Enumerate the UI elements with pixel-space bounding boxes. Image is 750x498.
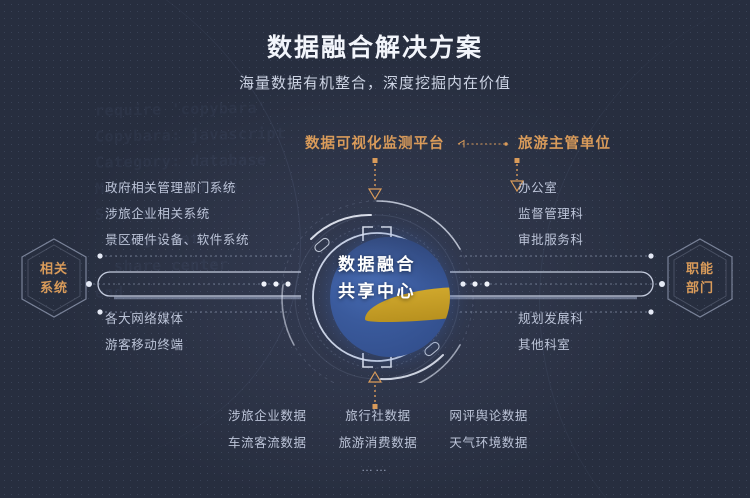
list-item: 监督管理科 [518,201,584,227]
dashed-left-arrow-icon [448,139,510,149]
list-item: 办公室 [518,175,584,201]
hub-sphere-shading [330,237,450,285]
data-item: 车流客流数据 [228,432,328,451]
data-item: 旅游消费数据 [328,432,428,451]
page-subtitle: 海量数据有机整合，深度挖掘内在价值 [0,72,750,93]
hub-sphere [330,237,450,357]
hexagon-right-label: 职能 部门 [664,236,736,320]
list-item: 游客移动终端 [105,332,184,358]
data-fusion-hub: 数据融合 共享中心 [277,157,477,383]
infographic-canvas: require 'copybara' Copybara: javascript … [0,0,750,498]
left-systems-list-top: 政府相关管理部门系统 涉旅企业相关系统 景区硬件设备、软件系统 [105,175,249,253]
data-item: 涉旅企业数据 [228,405,328,424]
connector-pipe-left [86,248,301,320]
hub-sphere-gold-wave [362,283,450,326]
connector-pipe-right [450,248,665,320]
list-item: 其他科室 [518,332,584,358]
hexagon-related-systems: 相关 系统 [18,236,90,320]
hexagon-right-line2: 部门 [686,278,714,297]
page-title: 数据融合解决方案 [0,28,750,64]
data-item: 旅行社数据 [328,405,428,424]
label-tourism-authority: 旅游主管单位 [518,132,611,153]
bottom-data-grid: 涉旅企业数据 旅行社数据 网评舆论数据 车流客流数据 旅游消费数据 天气环境数据 [228,405,528,451]
label-visualization-platform: 数据可视化监测平台 [305,132,445,153]
hexagon-left-line2: 系统 [40,278,68,297]
hexagon-functional-departments: 职能 部门 [664,236,736,320]
right-departments-list-top: 办公室 监督管理科 审批服务科 [518,175,584,253]
data-ellipsis: …… [0,460,750,474]
hexagon-right-line1: 职能 [686,259,714,278]
list-item: 政府相关管理部门系统 [105,175,249,201]
data-item: 网评舆论数据 [428,405,528,424]
hexagon-left-line1: 相关 [40,259,68,278]
data-item: 天气环境数据 [428,432,528,451]
list-item: 涉旅企业相关系统 [105,201,249,227]
hexagon-left-label: 相关 系统 [18,236,90,320]
